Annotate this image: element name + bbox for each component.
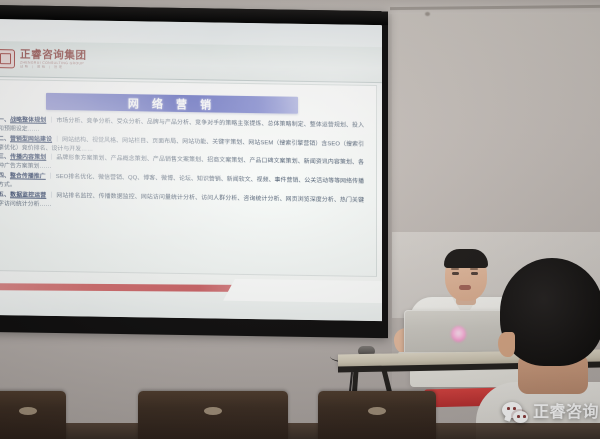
chair-emblem (204, 407, 222, 415)
slide-content-card: 网 络 营 销 一、战略整体规划｜市场分析、竞争分析、受众分析、品牌与产品分析、… (0, 79, 377, 277)
presenter-eyebrow-right (470, 268, 478, 270)
apple-logo-glow (451, 326, 466, 342)
seal-square-icon (0, 49, 15, 68)
section-heading: 数据监控运营 (10, 192, 46, 199)
attendee-ear (498, 332, 515, 357)
section-heading: 传播内容策划 (10, 155, 46, 162)
section-divider: ｜ (46, 155, 56, 161)
section-divider: ｜ (46, 118, 56, 124)
section-heading: 营销型网站建设 (10, 136, 52, 143)
presenter-mouth (459, 285, 471, 290)
company-subline-cn: 战略 | 营销 | 管理 (20, 66, 87, 70)
section-number: 一、 (0, 117, 10, 123)
slide-title-banner: 网 络 营 销 (46, 93, 298, 114)
section-divider: ｜ (52, 137, 62, 143)
photo-scene: 正睿咨询集团 ZHENGRUI CONSULTING GROUP 战略 | 营销… (0, 0, 600, 439)
slide-footer (0, 271, 382, 321)
chair-emblem (19, 407, 37, 415)
wechat-icon (502, 402, 528, 423)
section-divider: ｜ (46, 174, 56, 180)
attendee-hair (500, 258, 600, 366)
wechat-bubble-small (513, 411, 528, 423)
chair-emblem (368, 407, 386, 415)
section-heading: 整合传播推广 (10, 173, 46, 180)
projection-screen: 正睿咨询集团 ZHENGRUI CONSULTING GROUP 战略 | 营销… (0, 19, 382, 321)
section-number: 四、 (0, 173, 10, 179)
presenter-hair (444, 249, 488, 268)
section-number: 三、 (0, 154, 10, 160)
slide-title: 网 络 营 销 (128, 95, 216, 112)
chair (0, 391, 66, 439)
slide-body-text: 一、战略整体规划｜市场分析、竞争分析、受众分析、品牌与产品分析、竞争对手的策略主… (0, 116, 364, 215)
section-number: 二、 (0, 136, 10, 142)
section-divider: ｜ (46, 193, 56, 199)
wechat-dot (517, 415, 520, 418)
company-name: 正睿咨询集团 (20, 49, 87, 61)
wall-mark (425, 12, 430, 16)
slide-header: 正睿咨询集团 ZHENGRUI CONSULTING GROUP 战略 | 营销… (0, 41, 382, 83)
chair (318, 391, 436, 439)
section-number: 五、 (0, 192, 10, 198)
chair (138, 391, 288, 439)
footer-white-wedge (223, 279, 382, 304)
wechat-dot (523, 415, 526, 418)
presenter-eyebrow-left (451, 268, 459, 270)
wechat-dot (507, 407, 510, 410)
presenter-eye-left (452, 272, 459, 275)
presenter-eye-right (471, 272, 478, 275)
section-heading: 战略整体规划 (10, 117, 46, 124)
presentation-slide: 正睿咨询集团 ZHENGRUI CONSULTING GROUP 战略 | 营销… (0, 19, 382, 321)
company-logo: 正睿咨询集团 ZHENGRUI CONSULTING GROUP 战略 | 营销… (0, 49, 87, 70)
wechat-dot (513, 407, 516, 410)
floor (0, 423, 600, 439)
watermark: 正睿咨询 (502, 402, 599, 423)
company-logo-text: 正睿咨询集团 ZHENGRUI CONSULTING GROUP 战略 | 营销… (20, 49, 87, 70)
watermark-text: 正睿咨询 (533, 405, 599, 421)
